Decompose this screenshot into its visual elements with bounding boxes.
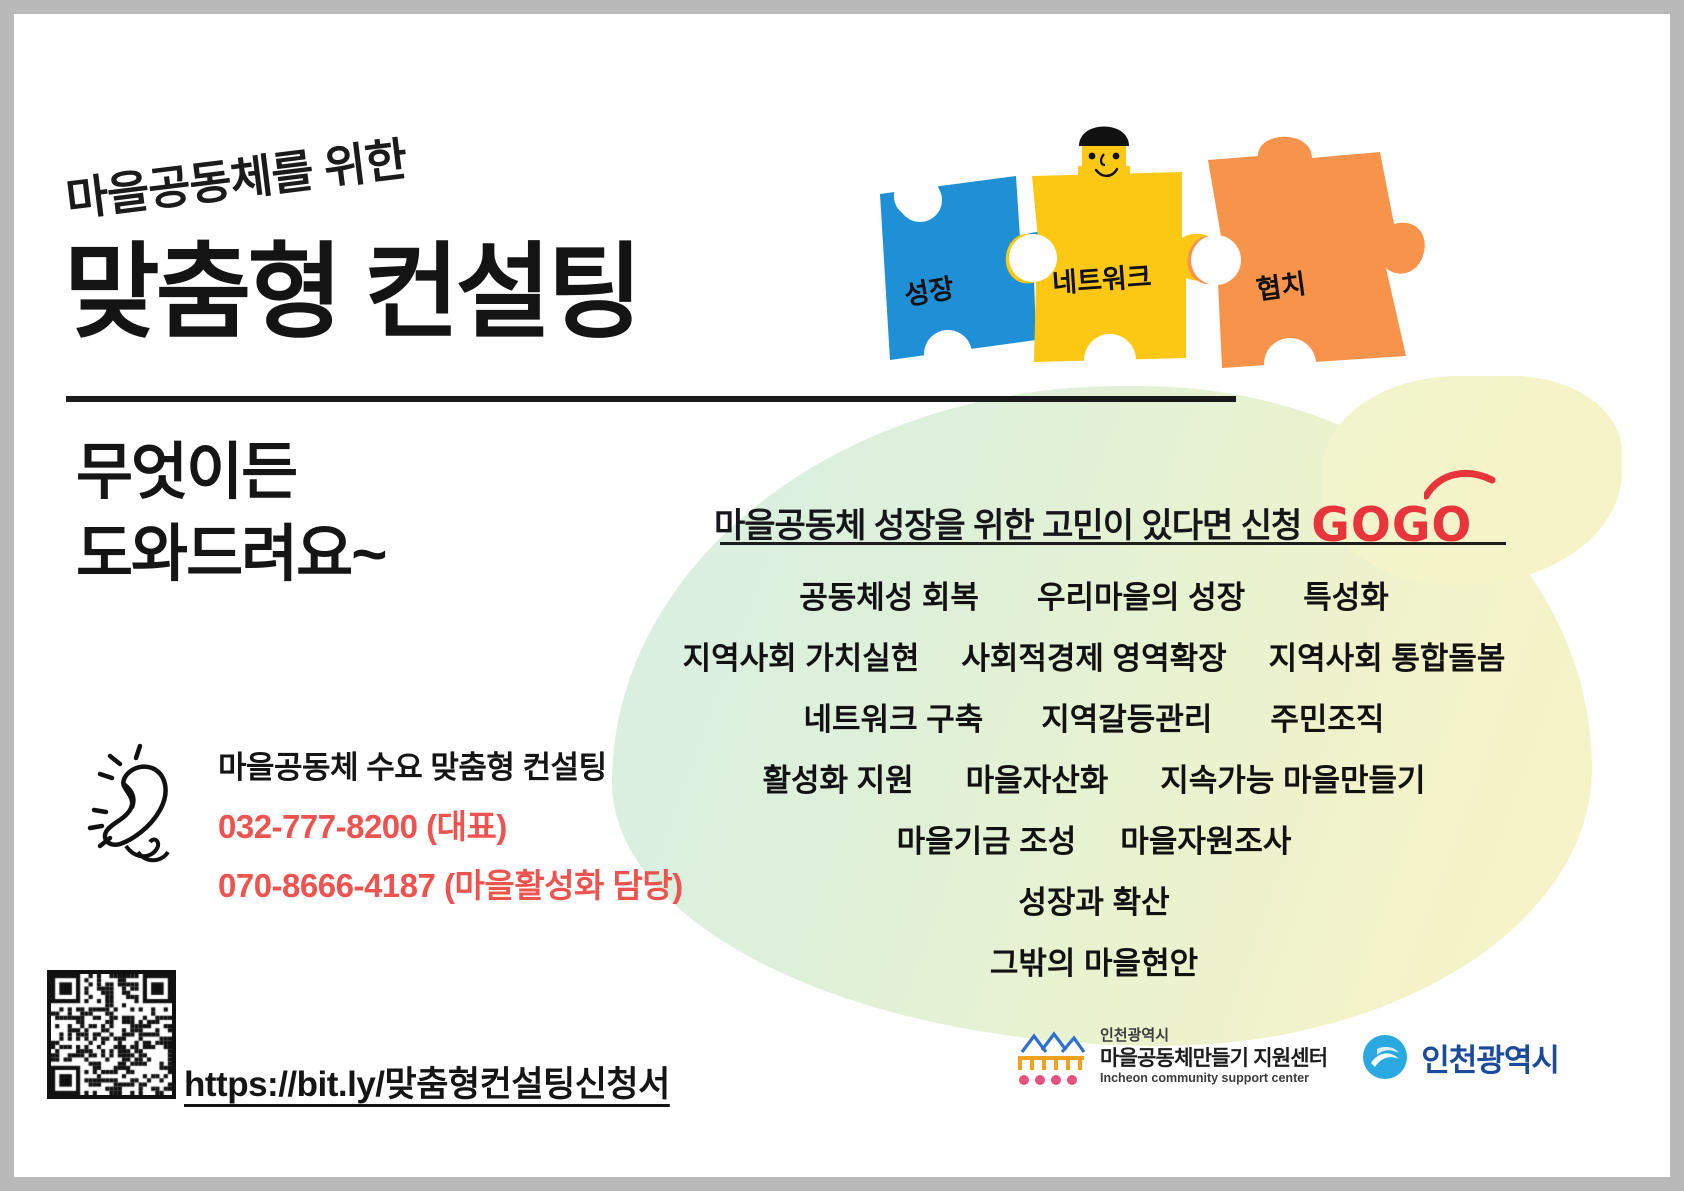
poster-headline: 맞춤형 컨설팅 [64, 236, 639, 350]
topic-item: 네트워크 구축 [804, 694, 984, 739]
poster-root: 마을공동체를 위한 맞춤형 컨설팅 무엇이든 도와드려요~ [0, 0, 1684, 1191]
topic-list: 공동체성 회복 우리마을의 성장 특성화 지역사회 가치실현 사회적경제 영역확… [644, 572, 1544, 999]
support-center-line2: 마을공동체만들기 지원센터 [1100, 1046, 1327, 1072]
puzzle-label-governance: 협치 [1254, 262, 1309, 308]
topic-item: 그밖의 마을현안 [990, 938, 1198, 983]
subhead-line-1: 무엇이든 [76, 432, 385, 514]
topic-item: 우리마을의 성장 [1037, 572, 1245, 617]
support-center-line3: Incheon community support center [1100, 1071, 1327, 1086]
topic-row: 네트워크 구축 지역갈등관리 주민조직 [644, 694, 1544, 739]
callout-title: 마을공동체 성장을 위한 고민이 있다면 신청 [714, 498, 1301, 547]
support-center-logo: 인천광역시 마을공동체만들기 지원센터 Incheon community su… [1014, 1026, 1327, 1088]
puzzle-piece-governance [1187, 137, 1424, 390]
contact-tel-sub[interactable]: 070-8666-4187 (마을활성화 담당) [218, 859, 683, 907]
topic-row: 마을기금 조성 마을자원조사 [644, 816, 1544, 861]
poster-subhead: 무엇이든 도와드려요~ [76, 432, 385, 596]
topic-item: 공동체성 회복 [799, 572, 979, 617]
qr-code-icon[interactable] [47, 970, 176, 1099]
contact-tel-main[interactable]: 032-777-8200 (대표) [218, 800, 683, 848]
village-roofs-icon [1014, 1026, 1088, 1088]
puzzle-label-network: 네트워크 [1051, 255, 1153, 301]
topic-row: 공동체성 회복 우리마을의 성장 특성화 [644, 572, 1544, 617]
poster-canvas: 마을공동체를 위한 맞춤형 컨설팅 무엇이든 도와드려요~ [14, 14, 1670, 1177]
incheon-city-label: 인천광역시 [1421, 1035, 1559, 1080]
topic-row: 그밖의 마을현안 [644, 938, 1544, 983]
topic-item: 마을자원조사 [1120, 816, 1291, 861]
topic-item: 지역갈등관리 [1041, 694, 1212, 739]
callout-title-row: 마을공동체 성장을 위한 고민이 있다면 신청 GOGO [714, 492, 1504, 547]
topic-item: 활성화 지원 [762, 755, 913, 800]
topic-row: 지역사회 가치실현 사회적경제 영역확장 지역사회 통합돌봄 [644, 633, 1544, 678]
topic-item: 사회적경제 영역확장 [961, 633, 1226, 678]
support-center-line1: 인천광역시 [1100, 1027, 1327, 1045]
topic-item: 마을기금 조성 [897, 816, 1077, 861]
person-head-icon [1078, 127, 1130, 183]
topic-item: 마을자산화 [966, 755, 1109, 800]
poster-kicker: 마을공동체를 위한 [62, 123, 410, 230]
subhead-line-2: 도와드려요~ [76, 514, 385, 596]
puzzle-illustration: 성장 네트워크 협치 [820, 110, 1460, 400]
application-url[interactable]: https://bit.ly/맞춤형컨설팅신청서 [184, 1056, 670, 1107]
swoosh-stroke-icon [1424, 466, 1496, 506]
contact-title: 마을공동체 수요 맞춤형 컨설팅 [218, 742, 683, 787]
contact-block: 마을공동체 수요 맞춤형 컨설팅 032-777-8200 (대표) 070-8… [218, 742, 683, 918]
topic-item: 지속가능 마을만들기 [1160, 755, 1425, 800]
topic-row: 성장과 확산 [644, 877, 1544, 922]
topic-item: 지역사회 가치실현 [683, 633, 920, 678]
incheon-city-icon [1361, 1033, 1409, 1081]
topic-row: 활성화 지원 마을자산화 지속가능 마을만들기 [644, 755, 1544, 800]
ringing-phone-icon [80, 740, 200, 864]
topic-item: 특성화 [1303, 572, 1389, 617]
footer-logos: 인천광역시 마을공동체만들기 지원센터 Incheon community su… [1014, 1026, 1559, 1088]
incheon-city-logo: 인천광역시 [1361, 1033, 1559, 1081]
topic-item: 지역사회 통합돌봄 [1269, 633, 1506, 678]
topic-item: 주민조직 [1270, 694, 1384, 739]
callout-divider [720, 542, 1506, 545]
support-center-text: 인천광역시 마을공동체만들기 지원센터 Incheon community su… [1100, 1027, 1327, 1086]
topic-item: 성장과 확산 [1018, 877, 1169, 922]
